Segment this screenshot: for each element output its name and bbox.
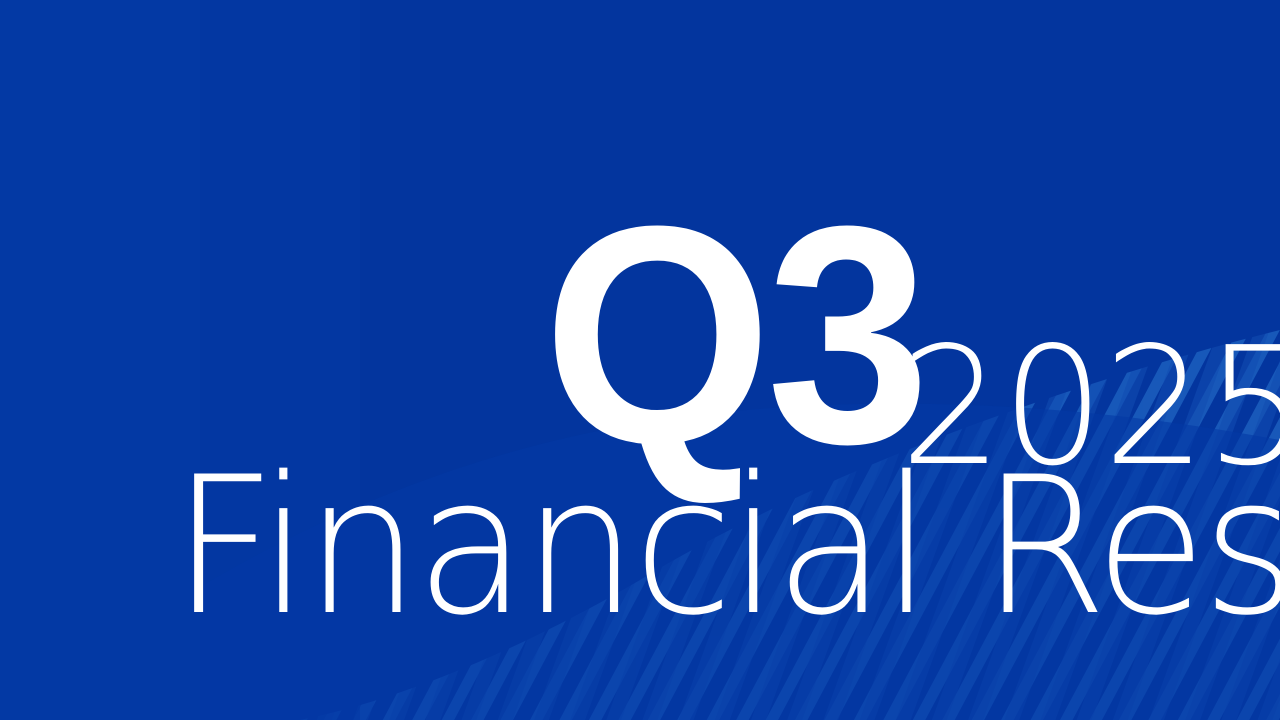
background-artwork	[0, 0, 1280, 720]
title-slide: Q3 2025 Financial Results	[0, 0, 1280, 720]
